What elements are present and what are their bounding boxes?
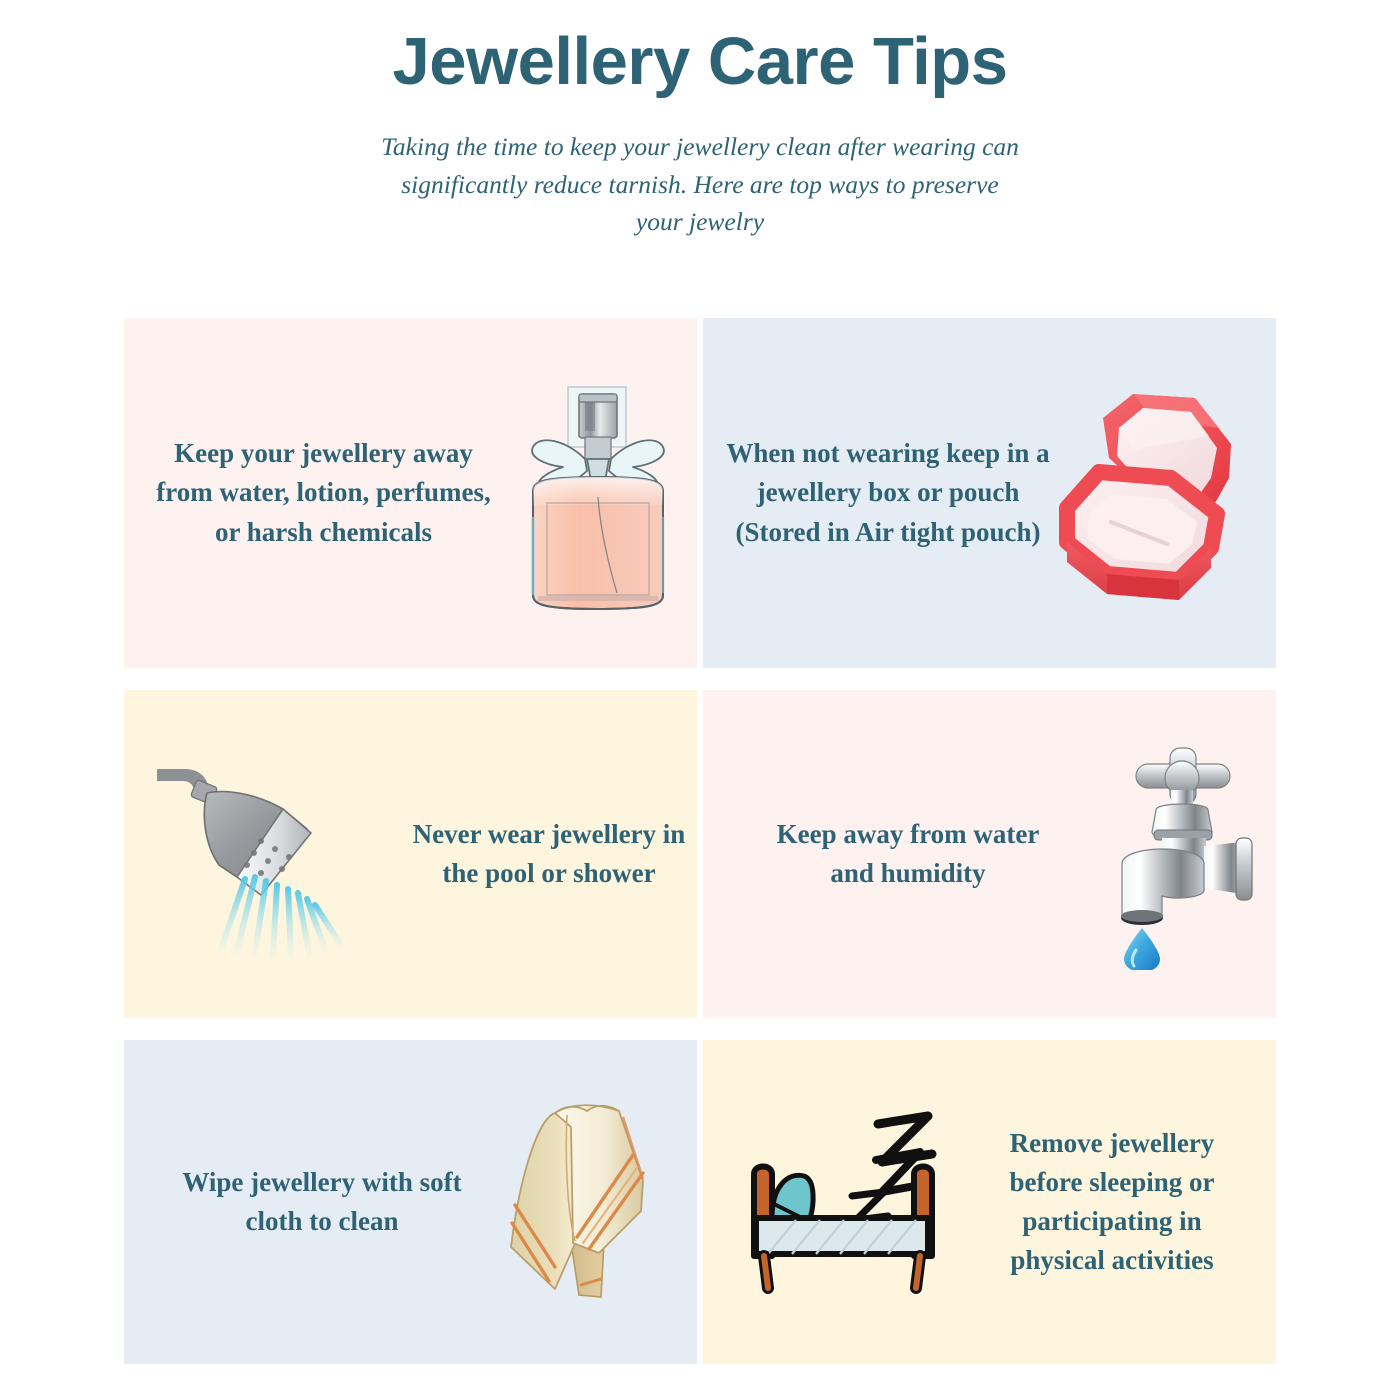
tip-card-bed: Remove jewellery before sleeping or part…	[703, 1040, 1276, 1364]
tip-card-faucet-text: Keep away from water and humidity	[758, 815, 1058, 893]
tips-grid: Keep your jewellery away from water, lot…	[124, 318, 1276, 1364]
page-subtitle: Taking the time to keep your jewellery c…	[380, 128, 1020, 240]
jewellery-box-icon	[1057, 382, 1272, 604]
header: Jewellery Care Tips Taking the time to k…	[0, 0, 1400, 241]
tip-card-jewellery-box: When not wearing keep in a jewellery box…	[703, 318, 1276, 668]
bed-sleep-icon	[729, 1106, 954, 1298]
perfume-bottle-icon	[503, 367, 693, 619]
tip-card-cloth: Wipe jewellery with soft cloth to clean	[124, 1040, 697, 1364]
page-title: Jewellery Care Tips	[0, 22, 1400, 102]
tip-card-shower-text: Never wear jewellery in the pool or show…	[404, 815, 694, 893]
tip-card-jewellery-box-text: When not wearing keep in a jewellery box…	[723, 434, 1053, 551]
shower-head-icon	[146, 749, 396, 959]
water-faucet-icon	[1076, 738, 1276, 970]
tip-card-perfume: Keep your jewellery away from water, lot…	[124, 318, 697, 668]
tip-card-cloth-text: Wipe jewellery with soft cloth to clean	[172, 1163, 472, 1241]
soft-cloth-icon	[488, 1089, 688, 1315]
tip-card-bed-text: Remove jewellery before sleeping or part…	[972, 1124, 1252, 1281]
tip-card-perfume-text: Keep your jewellery away from water, lot…	[146, 434, 501, 551]
tip-card-shower: Never wear jewellery in the pool or show…	[124, 690, 697, 1018]
tip-card-faucet: Keep away from water and humidity	[703, 690, 1276, 1018]
infographic-page: Jewellery Care Tips Taking the time to k…	[0, 0, 1400, 1400]
